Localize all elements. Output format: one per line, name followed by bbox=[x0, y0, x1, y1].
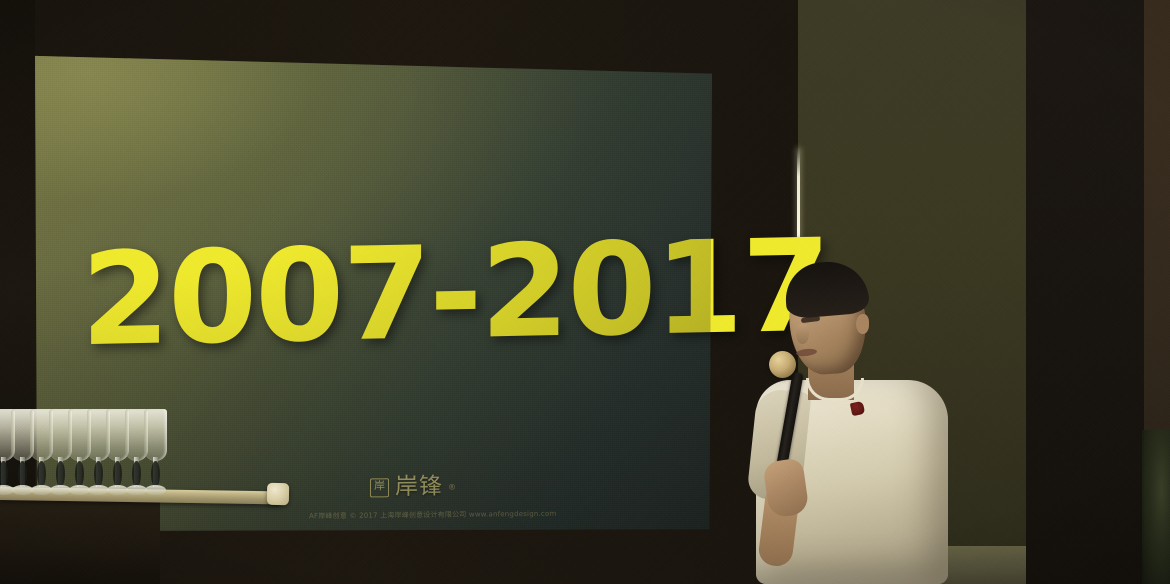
speaker-hair bbox=[783, 258, 870, 319]
glassware-group bbox=[0, 403, 177, 495]
speaker-ear bbox=[856, 314, 869, 334]
logo-wordmark: 岸锋 bbox=[395, 475, 443, 500]
speaker-nose bbox=[796, 324, 809, 344]
slide-title: 2007-2017 bbox=[81, 223, 829, 365]
table-body bbox=[0, 492, 160, 584]
rail-end-cap bbox=[267, 483, 289, 505]
wall-panel-dark bbox=[1026, 0, 1144, 584]
presentation-photo-scene: 2007-2017 岸 岸锋 ® AF岸峰创意 © 2017 上海岸峰创意设计有… bbox=[0, 0, 1170, 584]
logo-mark-icon: 岸 bbox=[370, 478, 389, 497]
registered-trademark-icon: ® bbox=[449, 482, 455, 491]
plant-foliage-edge bbox=[1142, 430, 1170, 584]
slide-brand-logo: 岸 岸锋 ® bbox=[370, 475, 455, 500]
speaker-figure bbox=[744, 262, 959, 584]
list-item bbox=[144, 409, 167, 495]
microphone-head-icon bbox=[769, 351, 796, 378]
